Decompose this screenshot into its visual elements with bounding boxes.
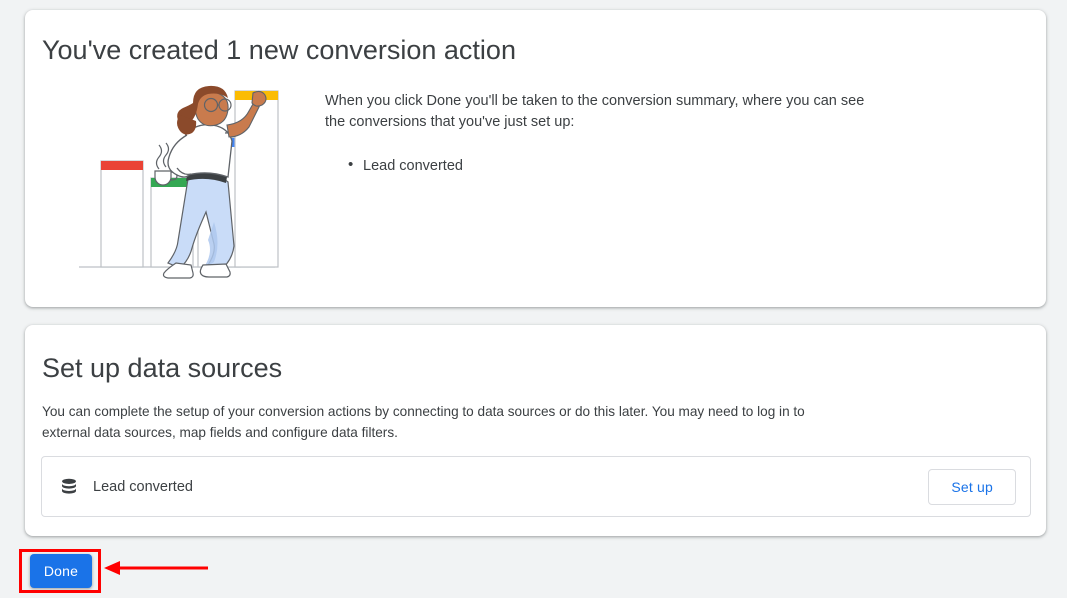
- data-sources-description: You can complete the setup of your conve…: [42, 401, 812, 443]
- data-sources-title: Set up data sources: [42, 353, 282, 384]
- illustration-bar-red: [101, 161, 143, 267]
- conversion-created-card: You've created 1 new conversion action: [25, 10, 1046, 307]
- created-conversions-list: Lead converted: [325, 156, 885, 176]
- illustration-bar-yellow: [235, 91, 278, 267]
- success-body: When you click Done you'll be taken to t…: [325, 91, 885, 176]
- page-root: You've created 1 new conversion action: [0, 0, 1067, 598]
- annotation-arrow-icon: [100, 556, 210, 580]
- table-row[interactable]: Lead converted Set up: [41, 456, 1031, 517]
- database-icon: [59, 477, 79, 497]
- done-button[interactable]: Done: [30, 554, 92, 588]
- list-item: Lead converted: [363, 156, 885, 176]
- person-with-bar-chart-illustration: [75, 83, 325, 283]
- set-up-button[interactable]: Set up: [928, 469, 1016, 505]
- page-title: You've created 1 new conversion action: [42, 35, 516, 66]
- data-source-name: Lead converted: [93, 479, 928, 495]
- success-paragraph: When you click Done you'll be taken to t…: [325, 91, 885, 133]
- data-sources-card: Set up data sources You can complete the…: [25, 325, 1046, 536]
